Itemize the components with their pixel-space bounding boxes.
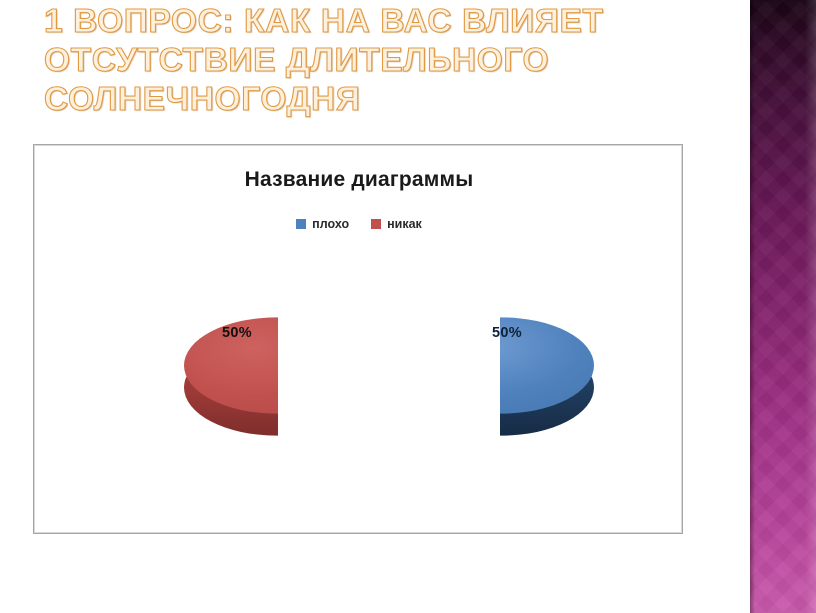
legend-swatch-red-icon — [371, 219, 381, 229]
decorative-purple-band — [750, 0, 816, 613]
legend-entry-nikak[interactable]: никак — [371, 217, 422, 231]
chart-title: Название диаграммы — [34, 168, 684, 192]
pie-slice-plohо-clip — [500, 273, 594, 458]
band-inner-shadow — [750, 0, 755, 613]
pie-data-label-nikak: 50% — [222, 325, 252, 341]
legend-swatch-blue-icon — [296, 219, 306, 229]
pie-slice-nikak[interactable] — [184, 273, 369, 458]
pie-data-label-plohо: 50% — [492, 325, 522, 341]
legend-label-plohо: плохо — [312, 217, 349, 231]
slide-title: 1 Вопрос: Как на вас влияет отсутствие д… — [44, 2, 734, 119]
chart-legend: плохо никак — [34, 217, 684, 231]
pie-plot-area: 50% 50% — [34, 263, 684, 513]
legend-label-nikak: никак — [387, 217, 422, 231]
presentation-slide: 1 Вопрос: Как на вас влияет отсутствие д… — [0, 0, 816, 613]
legend-entry-plohо[interactable]: плохо — [296, 217, 349, 231]
chart-object[interactable]: Название диаграммы плохо никак — [33, 144, 683, 534]
pie-slice-nikak-clip — [184, 273, 278, 458]
pie-slice-plohо[interactable] — [409, 273, 594, 458]
band-highlight-edge — [805, 0, 816, 613]
band-diamond-texture — [750, 0, 816, 613]
